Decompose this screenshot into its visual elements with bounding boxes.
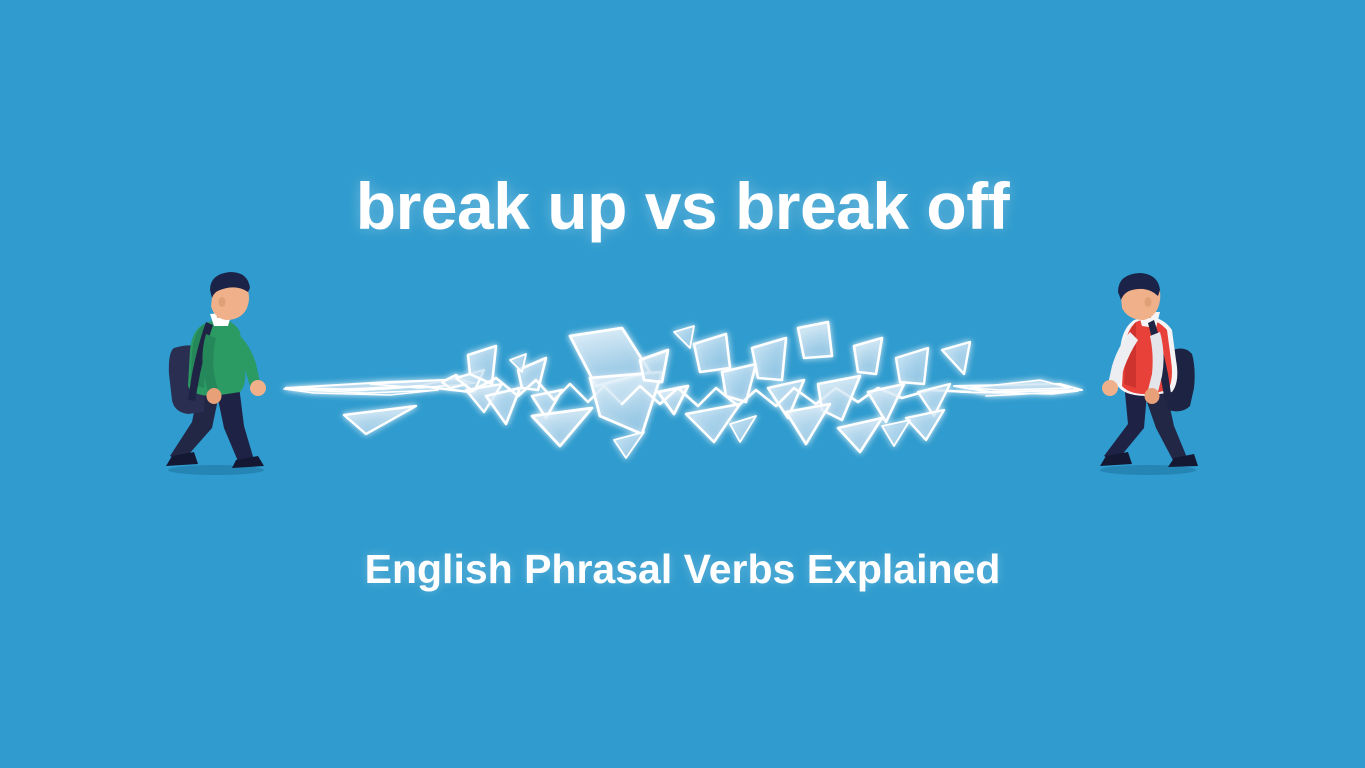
page-title: break up vs break off (0, 168, 1365, 244)
figure-right-walking-man (1078, 270, 1218, 480)
slide-canvas: break up vs break off English Phrasal Ve… (0, 0, 1365, 768)
page-subtitle: English Phrasal Verbs Explained (0, 546, 1365, 593)
shattered-line-graphic (270, 300, 1100, 480)
figure-left-walking-man (148, 270, 288, 480)
